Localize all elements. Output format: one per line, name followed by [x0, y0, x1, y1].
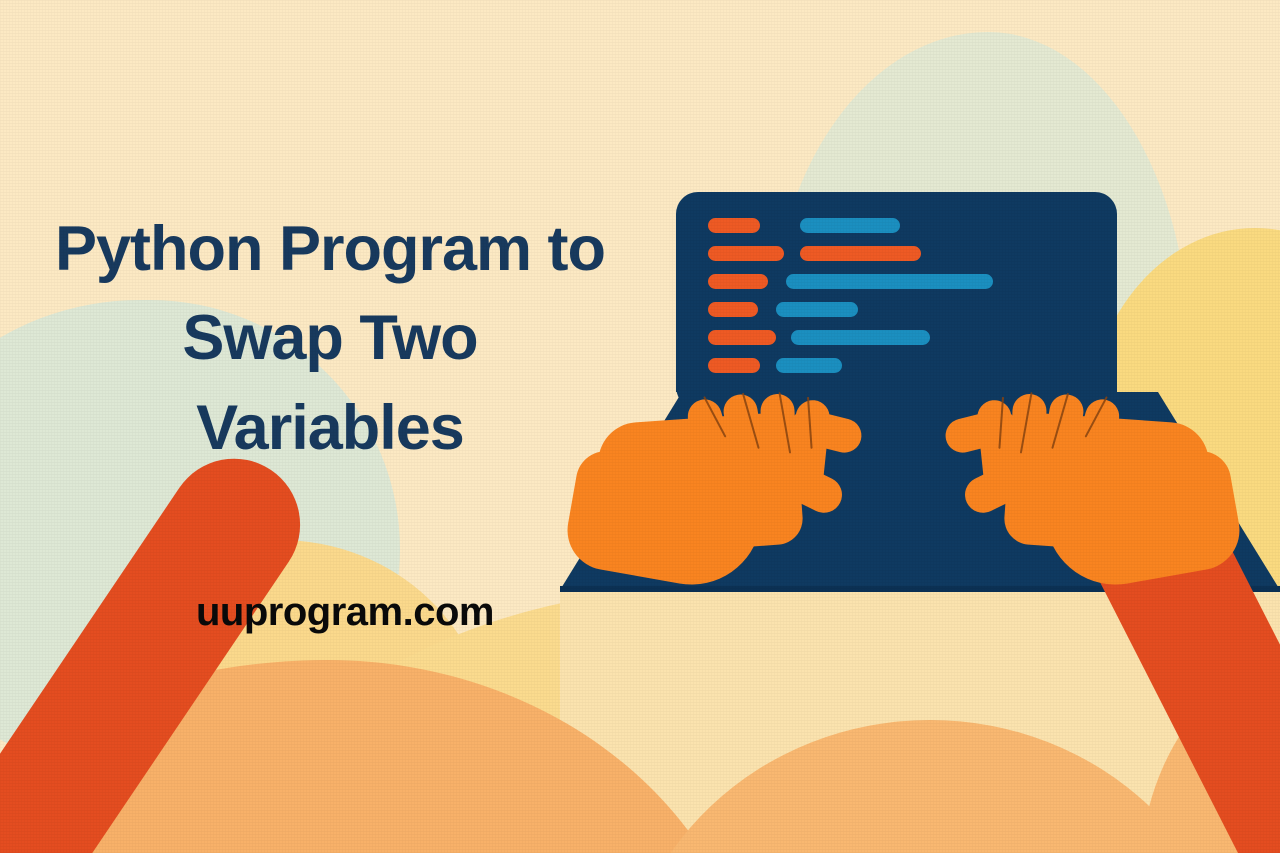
code-line-4	[708, 302, 858, 317]
code-token-keyword	[708, 246, 784, 261]
code-token-value	[786, 274, 993, 289]
code-token-keyword	[708, 330, 776, 345]
page-title: Python Program to Swap Two Variables	[0, 205, 660, 473]
poster-canvas: Python Program to Swap Two Variables uup…	[0, 0, 1280, 853]
code-line-6	[708, 358, 842, 373]
laptop-screen	[676, 192, 1117, 392]
code-token-value	[776, 302, 858, 317]
code-line-3	[708, 274, 993, 289]
code-line-5	[708, 330, 930, 345]
right-hand	[925, 392, 1175, 592]
left-arm	[0, 433, 326, 853]
left-hand	[640, 392, 890, 592]
code-token-value	[800, 246, 921, 261]
code-token-keyword	[708, 218, 760, 233]
code-line-2	[708, 246, 921, 261]
code-token-keyword	[708, 274, 768, 289]
site-watermark: uuprogram.com	[0, 590, 690, 635]
code-token-keyword	[708, 358, 760, 373]
code-token-value	[776, 358, 842, 373]
code-token-value	[791, 330, 930, 345]
code-line-1	[708, 218, 900, 233]
code-token-value	[800, 218, 900, 233]
code-token-keyword	[708, 302, 758, 317]
